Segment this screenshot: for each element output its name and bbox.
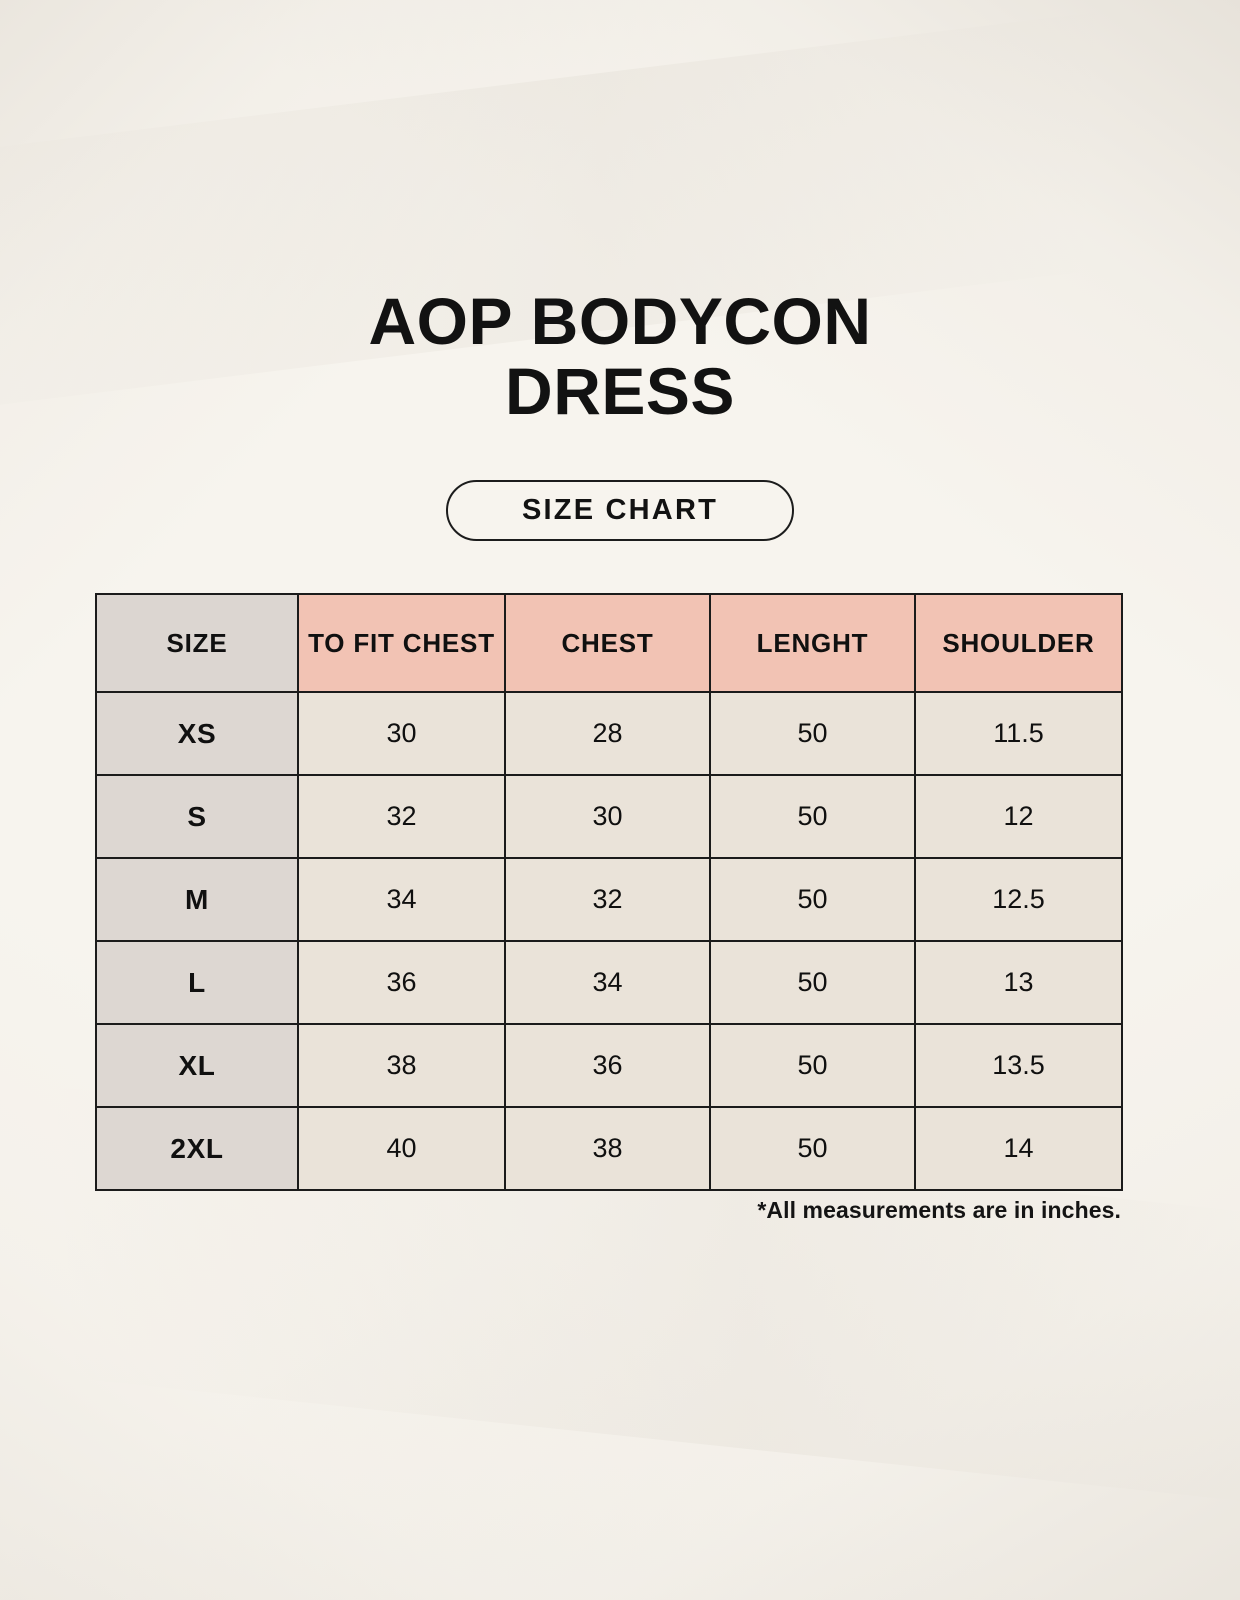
table-body: XS 30 28 50 11.5 S 32 30 50 12 M 34 32: [96, 692, 1122, 1190]
table-row: XL 38 36 50 13.5: [96, 1024, 1122, 1107]
cell-size: S: [96, 775, 298, 858]
page-title: AOP BODYCON DRESS: [0, 286, 1240, 426]
cell-to-fit-chest: 34: [298, 858, 505, 941]
column-header-size: SIZE: [96, 594, 298, 692]
cell-chest: 34: [505, 941, 710, 1024]
size-chart-page: AOP BODYCON DRESS SIZE CHART SIZE TO FIT…: [0, 0, 1240, 1600]
table-row: XS 30 28 50 11.5: [96, 692, 1122, 775]
cell-length: 50: [710, 858, 915, 941]
cell-length: 50: [710, 692, 915, 775]
cell-shoulder: 11.5: [915, 692, 1122, 775]
cell-length: 50: [710, 1107, 915, 1190]
measurement-units-note: *All measurements are in inches.: [757, 1197, 1121, 1224]
cell-chest: 30: [505, 775, 710, 858]
cell-to-fit-chest: 38: [298, 1024, 505, 1107]
cell-size: XS: [96, 692, 298, 775]
cell-length: 50: [710, 775, 915, 858]
table-header-row: SIZE TO FIT CHEST CHEST LENGHT SHOULDER: [96, 594, 1122, 692]
cell-shoulder: 12.5: [915, 858, 1122, 941]
column-header-chest: CHEST: [505, 594, 710, 692]
size-chart-badge: SIZE CHART: [446, 480, 794, 541]
size-table-container: SIZE TO FIT CHEST CHEST LENGHT SHOULDER …: [95, 593, 1121, 1191]
table-row: S 32 30 50 12: [96, 775, 1122, 858]
cell-shoulder: 13.5: [915, 1024, 1122, 1107]
cell-length: 50: [710, 941, 915, 1024]
cell-chest: 28: [505, 692, 710, 775]
cell-size: XL: [96, 1024, 298, 1107]
cell-chest: 36: [505, 1024, 710, 1107]
cell-size: 2XL: [96, 1107, 298, 1190]
cell-chest: 32: [505, 858, 710, 941]
cell-to-fit-chest: 40: [298, 1107, 505, 1190]
cell-shoulder: 14: [915, 1107, 1122, 1190]
badge-container: SIZE CHART: [0, 480, 1240, 541]
table-header: SIZE TO FIT CHEST CHEST LENGHT SHOULDER: [96, 594, 1122, 692]
cell-length: 50: [710, 1024, 915, 1107]
cell-to-fit-chest: 32: [298, 775, 505, 858]
table-row: M 34 32 50 12.5: [96, 858, 1122, 941]
column-header-length: LENGHT: [710, 594, 915, 692]
size-chart-table: SIZE TO FIT CHEST CHEST LENGHT SHOULDER …: [95, 593, 1123, 1191]
table-row: 2XL 40 38 50 14: [96, 1107, 1122, 1190]
column-header-to-fit-chest: TO FIT CHEST: [298, 594, 505, 692]
cell-to-fit-chest: 36: [298, 941, 505, 1024]
cell-shoulder: 13: [915, 941, 1122, 1024]
cell-chest: 38: [505, 1107, 710, 1190]
cell-to-fit-chest: 30: [298, 692, 505, 775]
table-row: L 36 34 50 13: [96, 941, 1122, 1024]
cell-size: L: [96, 941, 298, 1024]
cell-shoulder: 12: [915, 775, 1122, 858]
cell-size: M: [96, 858, 298, 941]
column-header-shoulder: SHOULDER: [915, 594, 1122, 692]
